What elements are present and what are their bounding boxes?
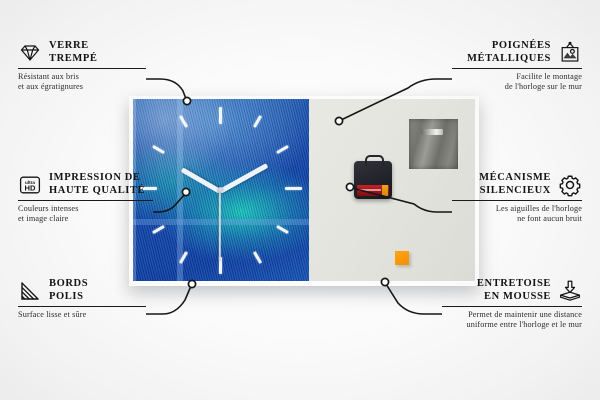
feature-desc-line1: Les aiguilles de l'horloge [496, 204, 582, 213]
feature-title-line2: SILENCIEUX [480, 185, 551, 196]
diamond-icon [18, 41, 42, 65]
feature-entretoise-en-mousse: ENTRETOISE EN MOUSSE Permet de maintenir… [442, 278, 582, 330]
feature-mecanisme-silencieux: MÉCANISME SILENCIEUX Les aiguilles de l'… [452, 172, 582, 224]
feature-desc-line1: Surface lisse et sûre [18, 310, 86, 319]
feature-desc-line2: ne font aucun bruit [517, 214, 582, 223]
feature-title-line2: TREMPÉ [49, 53, 98, 64]
clock-rear-face [309, 99, 475, 281]
feature-title-line1: VERRE [49, 40, 89, 51]
feature-rule [442, 306, 582, 307]
feature-title-line1: BORDS [49, 278, 88, 289]
product-infographic: VERRE TREMPÉ Résistant aux bris et aux é… [0, 0, 600, 400]
feature-title-line1: MÉCANISME [479, 172, 551, 183]
feature-rule [18, 200, 153, 201]
aa-battery [357, 185, 389, 196]
feature-desc-line2: et aux égratignures [18, 82, 83, 91]
mechanism-hanger [365, 155, 384, 166]
feature-title-line2: MÉTALLIQUES [467, 53, 551, 64]
ultra-hd-icon-bottom: HD [25, 183, 36, 192]
feature-title-line2: POLIS [49, 291, 84, 302]
feature-desc-line2: et image claire [18, 214, 68, 223]
feature-desc-line2: de l'horloge sur le mur [505, 82, 582, 91]
picture-frame-hanging-icon [558, 41, 582, 65]
feature-bords-polis: BORDS POLIS Surface lisse et sûre [18, 278, 146, 320]
orange-foam-spacer [395, 251, 409, 265]
feature-impression-haute-qualite: ultra HD IMPRESSION DE HAUTE QUALITÉ Cou… [18, 172, 153, 224]
feature-title-line1: ENTRETOISE [477, 278, 551, 289]
feature-desc-line1: Résistant aux bris [18, 72, 79, 81]
product-photo [133, 99, 475, 281]
foam-spacer-arrow-icon [558, 279, 582, 303]
battery-label-line [359, 189, 381, 191]
silent-quartz-mechanism [354, 161, 392, 199]
feature-rule [18, 306, 146, 307]
feature-desc-line2: uniforme entre l'horloge et le mur [467, 320, 582, 329]
feature-title-line2: EN MOUSSE [484, 291, 551, 302]
feature-desc-line1: Permet de maintenir une distance [468, 310, 582, 319]
feature-desc-line1: Facilite le montage [516, 72, 582, 81]
clock-front-face [133, 99, 310, 281]
gear-icon [558, 173, 582, 197]
feature-rule [452, 68, 582, 69]
feature-title-line1: POIGNÉES [492, 40, 551, 51]
ultra-hd-icon: ultra HD [18, 173, 42, 197]
feature-title-line2: HAUTE QUALITÉ [49, 185, 145, 196]
feature-title-line1: IMPRESSION DE [49, 172, 141, 183]
feature-rule [452, 200, 582, 201]
feature-verre-trempe: VERRE TREMPÉ Résistant aux bris et aux é… [18, 40, 146, 92]
metal-hanging-plate [409, 119, 458, 169]
plate-slot [421, 129, 443, 135]
feature-desc-line1: Couleurs intenses [18, 204, 79, 213]
feature-poignees-metalliques: POIGNÉES MÉTALLIQUES Facilite le montage… [452, 40, 582, 92]
feature-rule [18, 68, 146, 69]
polished-edges-icon [18, 279, 42, 303]
battery-positive-terminal [382, 185, 388, 196]
